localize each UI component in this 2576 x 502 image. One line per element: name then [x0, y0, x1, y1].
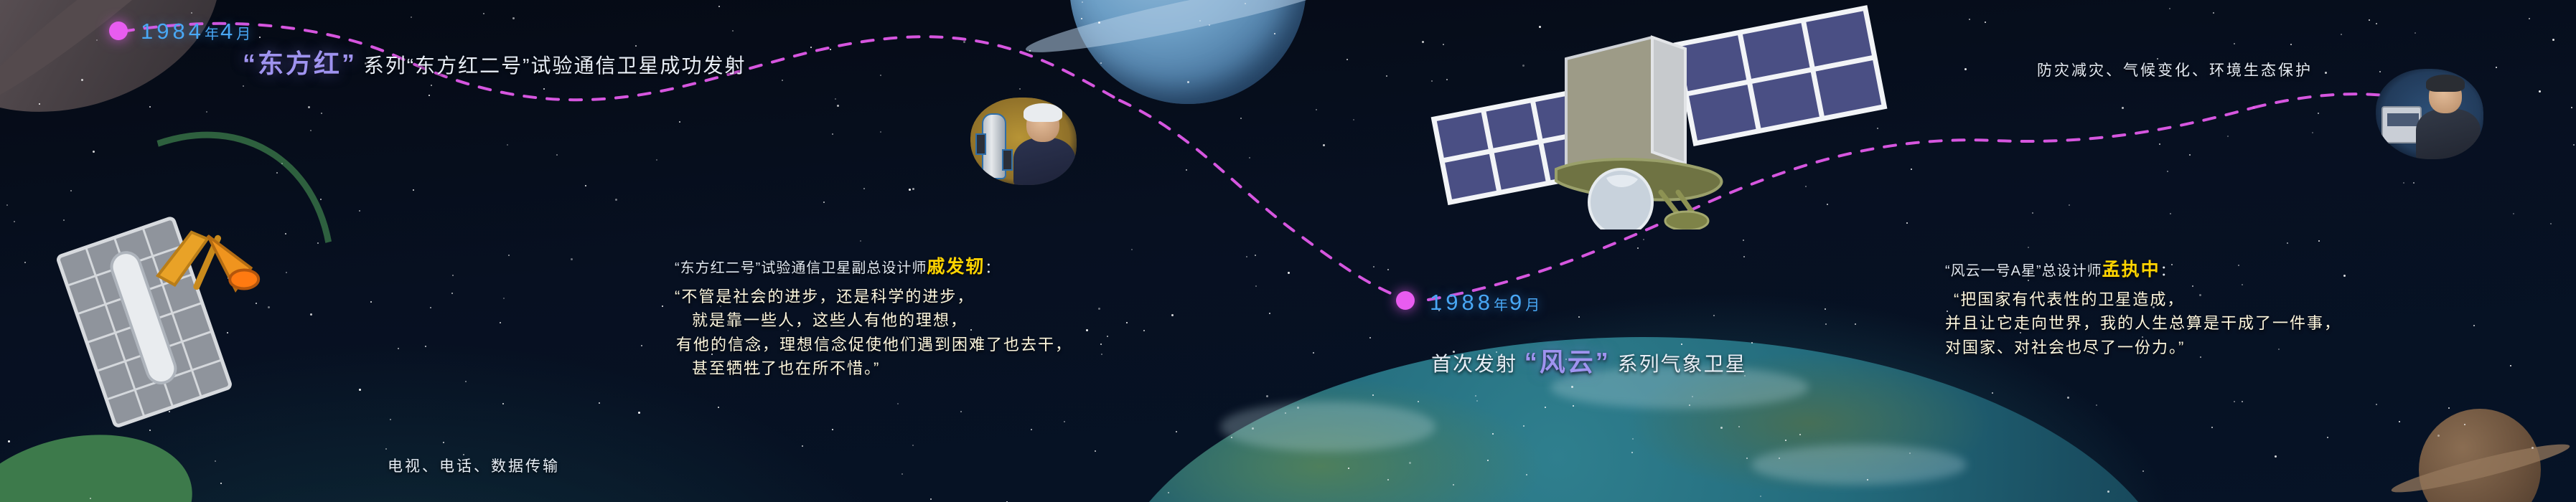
infographic-canvas: 1984年4月 “东方红” 系列“东方红二号”试验通信卫星成功发射 — [0, 0, 2576, 502]
timeline-node-1984[interactable] — [109, 22, 128, 40]
quote-line-meng-1: “把国家有代表性的卫星造成， — [1945, 288, 2341, 311]
headline-rest-dongfanghong: 系列“东方红二号”试验通信卫星成功发射 — [364, 55, 746, 77]
satellite-fengyun-illustration — [1400, 0, 1902, 229]
headline-1988: 首次发射 “风云” 系列气象卫星 — [1431, 341, 1747, 379]
date-month-1984: 4 — [220, 19, 236, 44]
quote-attr-suffix-meng: ： — [2160, 263, 2175, 279]
caption-fengyun: 防灾减灾、气候变化、环境生态保护 — [2037, 59, 2313, 80]
portrait-qi-fazhen — [970, 98, 1077, 185]
date-label-1988: 1988年9月 — [1430, 290, 1541, 316]
quote-line-meng-3: 对国家、对社会也尽了一份力。” — [1945, 336, 2341, 359]
quote-attr-name-meng: 孟执中 — [2102, 260, 2160, 280]
headline-rest-fengyun: 系列气象卫星 — [1618, 353, 1747, 375]
rocket-thumbnail-icon — [982, 113, 1006, 179]
quote-line-meng-2: 并且让它走向世界，我的人生总算是干成了一件事， — [1945, 311, 2341, 335]
date-month-1988: 9 — [1509, 290, 1525, 315]
date-year-unit-1988: 年 — [1494, 298, 1509, 313]
headline-accent-dongfanghong: “东方红” — [243, 49, 357, 78]
quote-attr-prefix-qi: “东方红二号”试验通信卫星副总设计师 — [675, 260, 927, 276]
planet-blue-icon — [1069, 0, 1306, 104]
portrait-hair-meng — [2426, 75, 2465, 92]
date-year-1988: 1988 — [1430, 290, 1494, 315]
portrait-body-meng — [2416, 109, 2481, 159]
quote-attribution-qi: “东方红二号”试验通信卫星副总设计师戚发轫： — [675, 252, 1072, 278]
date-year-1984: 1984 — [141, 19, 205, 44]
timeline-node-1988[interactable] — [1396, 291, 1415, 310]
planet-ringed-bottom-right-icon — [2419, 409, 2541, 502]
quote-attr-suffix-qi: ： — [985, 260, 1000, 276]
quote-block-meng-zhizhong: “风云一号A星”总设计师孟执中： “把国家有代表性的卫星造成， 并且让它走向世界… — [1945, 255, 2341, 359]
portrait-meng-zhizhong — [2376, 69, 2483, 159]
date-label-1984: 1984年4月 — [141, 19, 252, 44]
quote-line-qi-1: “不管是社会的进步，还是科学的进步， — [675, 285, 1072, 308]
portrait-hair-qi — [1024, 103, 1062, 122]
date-year-unit-1984: 年 — [205, 27, 220, 42]
headline-1984: “东方红” 系列“东方红二号”试验通信卫星成功发射 — [243, 43, 746, 80]
date-month-unit-1988: 月 — [1525, 298, 1541, 313]
date-month-unit-1984: 月 — [236, 27, 252, 42]
quote-attr-prefix-meng: “风云一号A星”总设计师 — [1945, 263, 2102, 279]
quote-attr-name-qi: 戚发轫 — [927, 257, 985, 277]
caption-dongfanghong: 电视、电话、数据传输 — [388, 455, 560, 476]
quote-line-qi-4: 甚至牺牲了也在所不惜。” — [675, 356, 1072, 380]
quote-line-qi-2: 就是靠一些人，这些人有他的理想， — [675, 308, 1072, 332]
quote-attribution-meng: “风云一号A星”总设计师孟执中： — [1945, 255, 2341, 281]
headline-prefix-fengyun: 首次发射 — [1431, 353, 1517, 375]
quote-line-qi-3: 有他的信念，理想信念促使他们遇到困难了也去干， — [675, 333, 1072, 356]
portrait-body-qi — [1013, 138, 1075, 185]
headline-accent-fengyun: “风云” — [1524, 347, 1611, 376]
quote-block-qi-fazhen: “东方红二号”试验通信卫星副总设计师戚发轫： “不管是社会的进步，还是科学的进步… — [675, 252, 1072, 381]
